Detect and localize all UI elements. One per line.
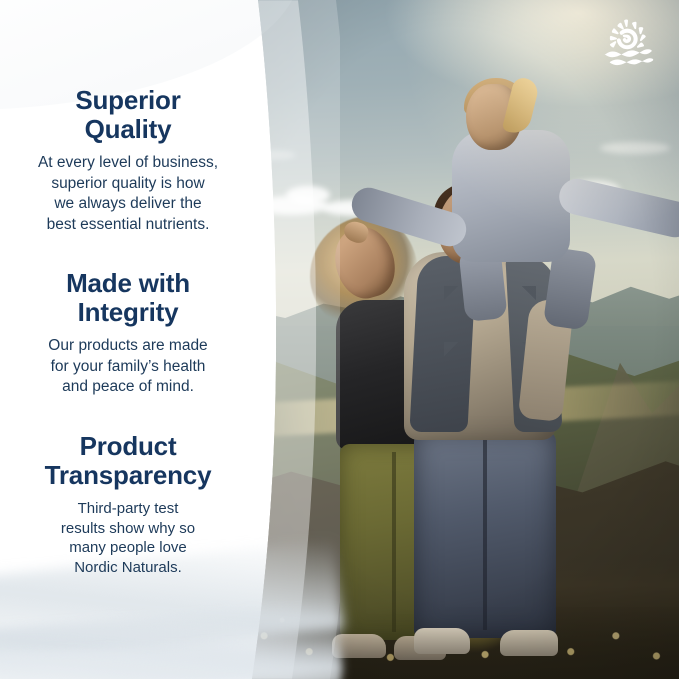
benefit-superior-quality: Superior Quality At every level of busin… [10,86,246,235]
father-shoe [414,628,470,654]
father-shoe [500,630,558,656]
benefit-body: Third-party test results show why so man… [10,499,246,578]
benefit-product-transparency: Product Transparency Third-party test re… [10,432,246,578]
promo-banner: Superior Quality At every level of busin… [0,0,679,679]
benefit-heading: Superior Quality [10,86,246,144]
benefit-heading: Product Transparency [10,432,246,490]
nordic-naturals-sun-wave-logo [597,14,657,74]
child-jacket [452,130,570,262]
benefits-list: Superior Quality At every level of busin… [0,0,268,679]
benefit-made-with-integrity: Made with Integrity Our products are mad… [10,269,246,398]
cloud [600,142,670,154]
benefit-heading: Made with Integrity [10,269,246,327]
father-jeans [414,430,556,638]
benefit-body: Our products are made for your family’s … [10,336,246,397]
benefit-body: At every level of business, superior qua… [10,153,246,235]
